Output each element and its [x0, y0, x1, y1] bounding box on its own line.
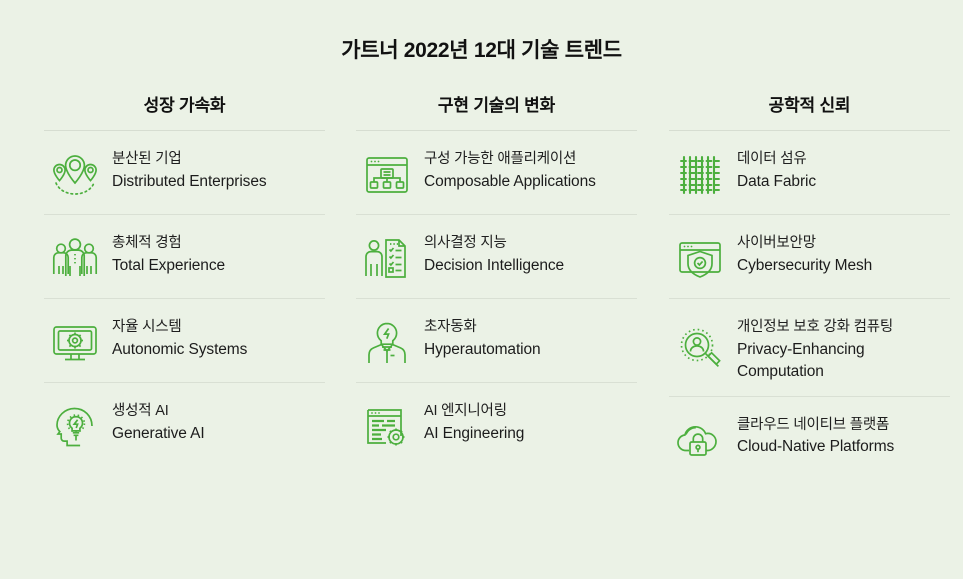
people-group-icon	[44, 232, 106, 286]
item-label-ko: 데이터 섬유	[737, 149, 816, 170]
item-label-en: Hyperautomation	[424, 339, 541, 361]
item-labels: 사이버보안망 Cybersecurity Mesh	[737, 232, 872, 277]
list-item[interactable]: 생성적 AI Generative AI	[44, 383, 325, 466]
lightbulb-person-icon	[356, 316, 418, 370]
browser-shield-check-icon	[669, 232, 731, 286]
item-label-ko: 클라우드 네이티브 플랫폼	[737, 415, 894, 436]
list-item[interactable]: 총체적 경험 Total Experience	[44, 215, 325, 299]
item-list: 데이터 섬유 Data Fabric	[669, 131, 950, 479]
item-labels: 생성적 AI Generative AI	[112, 400, 205, 445]
column-growth: 성장 가속화	[44, 91, 325, 479]
column-engineering-trust: 공학적 신뢰 데이터 섬유 Data Fabric	[669, 91, 950, 479]
item-label-ko: 의사결정 지능	[424, 233, 564, 254]
item-list: 분산된 기업 Distributed Enterprises	[44, 131, 325, 466]
item-labels: 총체적 경험 Total Experience	[112, 232, 225, 277]
item-list: 구성 가능한 애플리케이션 Composable Applications	[356, 131, 637, 466]
item-label-en: Total Experience	[112, 255, 225, 277]
item-label-en: Decision Intelligence	[424, 255, 564, 277]
head-lightbulb-icon	[44, 400, 106, 454]
list-item[interactable]: 클라우드 네이티브 플랫폼 Cloud-Native Platforms	[669, 397, 950, 480]
item-label-en: Composable Applications	[424, 171, 596, 193]
item-label-ko: 총체적 경험	[112, 233, 225, 254]
woven-fabric-icon	[669, 148, 731, 202]
list-item[interactable]: 자율 시스템 Autonomic Systems	[44, 299, 325, 383]
list-item[interactable]: 의사결정 지능 Decision Intelligence	[356, 215, 637, 299]
list-item[interactable]: 개인정보 보호 강화 컴퓨팅 Privacy-Enhancing Computa…	[669, 299, 950, 396]
browser-blocks-icon	[356, 148, 418, 202]
item-label-en: Distributed Enterprises	[112, 171, 267, 193]
item-labels: 클라우드 네이티브 플랫폼 Cloud-Native Platforms	[737, 414, 894, 459]
item-label-en: Data Fabric	[737, 171, 816, 193]
item-label-ko: 구성 가능한 애플리케이션	[424, 149, 596, 170]
item-label-en: Generative AI	[112, 423, 205, 445]
list-item[interactable]: 초자동화 Hyperautomation	[356, 299, 637, 383]
item-labels: AI 엔지니어링 AI Engineering	[424, 400, 524, 445]
person-checklist-icon	[356, 232, 418, 286]
item-labels: 구성 가능한 애플리케이션 Composable Applications	[424, 148, 596, 193]
list-item[interactable]: 분산된 기업 Distributed Enterprises	[44, 131, 325, 215]
item-label-ko: 분산된 기업	[112, 149, 267, 170]
monitor-gear-icon	[44, 316, 106, 370]
item-labels: 분산된 기업 Distributed Enterprises	[112, 148, 267, 193]
item-labels: 의사결정 지능 Decision Intelligence	[424, 232, 564, 277]
location-pins-icon	[44, 148, 106, 202]
code-window-gear-icon	[356, 400, 418, 454]
column-header: 공학적 신뢰	[669, 91, 950, 130]
list-item[interactable]: 사이버보안망 Cybersecurity Mesh	[669, 215, 950, 299]
item-label-ko: 사이버보안망	[737, 233, 872, 254]
columns-container: 성장 가속화	[0, 91, 963, 479]
item-label-en: Cloud-Native Platforms	[737, 436, 894, 458]
item-label-ko: 자율 시스템	[112, 317, 247, 338]
item-label-en: Cybersecurity Mesh	[737, 255, 872, 277]
column-header: 구현 기술의 변화	[356, 91, 637, 130]
item-label-ko: 개인정보 보호 강화 컴퓨팅	[737, 317, 893, 338]
list-item[interactable]: 데이터 섬유 Data Fabric	[669, 131, 950, 215]
item-label-en: AI Engineering	[424, 423, 524, 445]
item-label-en: Privacy-Enhancing Computation	[737, 339, 893, 384]
item-label-ko: 생성적 AI	[112, 401, 205, 422]
list-item[interactable]: AI 엔지니어링 AI Engineering	[356, 383, 637, 466]
item-label-en: Autonomic Systems	[112, 339, 247, 361]
item-label-ko: AI 엔지니어링	[424, 401, 524, 422]
item-labels: 개인정보 보호 강화 컴퓨팅 Privacy-Enhancing Computa…	[737, 316, 893, 383]
column-header: 성장 가속화	[44, 91, 325, 130]
page-title: 가트너 2022년 12대 기술 트렌드	[0, 0, 963, 63]
infographic-page: 가트너 2022년 12대 기술 트렌드 성장 가속화	[0, 0, 963, 579]
list-item[interactable]: 구성 가능한 애플리케이션 Composable Applications	[356, 131, 637, 215]
item-labels: 초자동화 Hyperautomation	[424, 316, 541, 361]
item-labels: 데이터 섬유 Data Fabric	[737, 148, 816, 193]
item-label-ko: 초자동화	[424, 317, 541, 338]
cloud-lock-icon	[669, 414, 731, 468]
magnifier-person-icon	[669, 316, 731, 382]
item-labels: 자율 시스템 Autonomic Systems	[112, 316, 247, 361]
column-technology-change: 구현 기술의 변화	[356, 91, 637, 479]
